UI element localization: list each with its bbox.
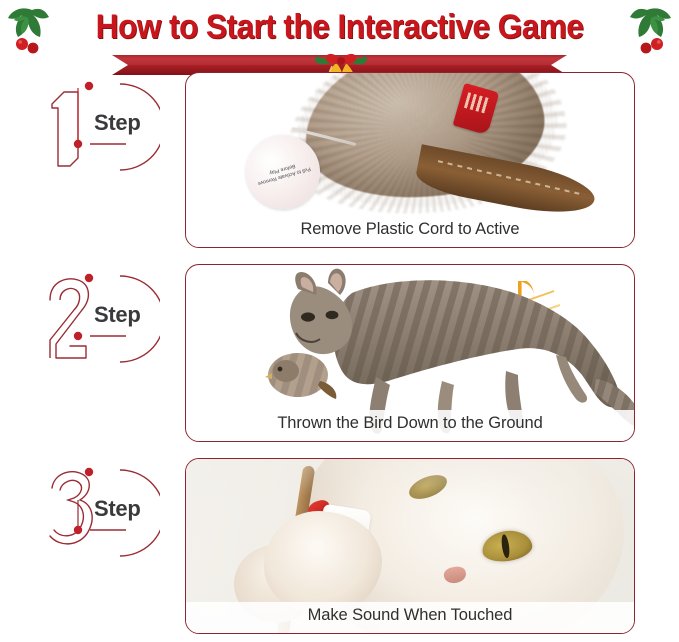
holly-right-icon bbox=[615, 4, 677, 58]
step-badge-2-label: Step bbox=[94, 302, 140, 328]
page-title: How to Start the Interactive Game bbox=[24, 8, 655, 47]
step-panel-2: Thrown the Bird Down to the Ground bbox=[185, 264, 635, 442]
step-panel-1: Pull to Activate Remove Before Play Remo… bbox=[185, 72, 635, 248]
step-2-caption: Thrown the Bird Down to the Ground bbox=[186, 410, 634, 441]
step-3-caption: Make Sound When Touched bbox=[186, 602, 634, 633]
step-row-2: Step bbox=[0, 264, 679, 442]
page-header: How to Start the Interactive Game bbox=[0, 0, 679, 82]
step-row-3: Step Make Sound When Touched bbox=[0, 458, 679, 634]
step-row-1: Step Pull to Activate Remove Before Play… bbox=[0, 72, 679, 248]
step-badge-1-label: Step bbox=[94, 110, 140, 136]
step-badge-3-label: Step bbox=[94, 496, 140, 522]
bird-toy-on-ground bbox=[264, 347, 342, 405]
pull-tab-text: Pull to Activate Remove Before Play bbox=[251, 157, 314, 188]
step-badge-1: Step bbox=[34, 72, 160, 182]
step-badge-3: Step bbox=[34, 458, 160, 568]
step-1-caption: Remove Plastic Cord to Active bbox=[186, 216, 634, 247]
step-badge-2: Step bbox=[34, 264, 160, 374]
step-panel-3: Make Sound When Touched bbox=[185, 458, 635, 634]
